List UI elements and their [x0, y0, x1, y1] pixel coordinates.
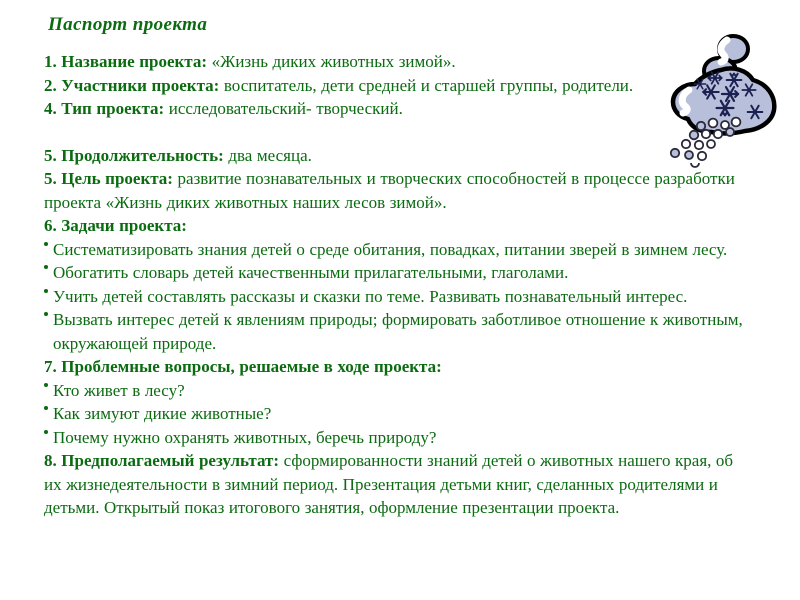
paragraph-item-1-project-name: 1. Название проекта: «Жизнь диких животн…: [44, 50, 754, 74]
label-item-6-tasks: 6. Задачи проекта:: [44, 216, 187, 235]
list-item-task-3: Учить детей составлять рассказы и сказки…: [44, 285, 754, 309]
label-item-7-questions: 7. Проблемные вопросы, решаемые в ходе п…: [44, 357, 442, 376]
paragraph-item-4-project-type: 4. Тип проекта: исследовательский- творч…: [44, 97, 754, 121]
value-item-5-duration: два месяца.: [224, 146, 312, 165]
bullet-dot-icon: [44, 289, 48, 293]
label-item-5-goal: 5. Цель проекта:: [44, 169, 173, 188]
value-item-4-project-type: исследовательский- творческий.: [164, 99, 403, 118]
list-item-task-2: Обогатить словарь детей качественными пр…: [44, 261, 754, 285]
label-item-5-duration: 5. Продолжительность:: [44, 146, 224, 165]
list-item-question-1: Кто живет в лесу?: [44, 379, 754, 403]
value-task-2: Обогатить словарь детей качественными пр…: [53, 263, 568, 282]
paragraph-item-5-goal: 5. Цель проекта: развитие познавательных…: [44, 167, 754, 214]
value-task-3: Учить детей составлять рассказы и сказки…: [53, 287, 687, 306]
value-item-1-project-name: «Жизнь диких животных зимой».: [207, 52, 456, 71]
paragraph-item-2-participants: 2. Участники проекта: воспитатель, дети …: [44, 74, 754, 98]
label-item-1-project-name: 1. Название проекта:: [44, 52, 207, 71]
paragraph-item-5-duration: 5. Продолжительность: два месяца.: [44, 144, 754, 168]
paragraph-item-6-tasks: 6. Задачи проекта:: [44, 214, 754, 238]
value-item-2-participants: воспитатель, дети средней и старшей груп…: [219, 76, 633, 95]
bullet-dot-icon: [44, 242, 48, 246]
bullet-dot-icon: [44, 430, 48, 434]
label-item-4-project-type: 4. Тип проекта:: [44, 99, 164, 118]
list-item-question-2: Как зимуют дикие животные?: [44, 402, 754, 426]
list-item-question-3: Почему нужно охранять животных, беречь п…: [44, 426, 754, 450]
slide-canvas: Паспорт проекта 1. Название проекта: «Жи…: [0, 0, 800, 600]
value-question-3: Почему нужно охранять животных, беречь п…: [53, 428, 436, 447]
paragraph-item-7-questions: 7. Проблемные вопросы, решаемые в ходе п…: [44, 355, 754, 379]
value-task-4: Вызвать интерес детей к явлениям природы…: [53, 310, 743, 353]
page-title: Паспорт проекта: [48, 14, 207, 36]
value-task-1: Систематизировать знания детей о среде о…: [53, 240, 727, 259]
value-question-2: Как зимуют дикие животные?: [53, 404, 271, 423]
list-item-task-4: Вызвать интерес детей к явлениям природы…: [44, 308, 754, 355]
bullet-dot-icon: [44, 312, 48, 316]
bullet-dot-icon: [44, 265, 48, 269]
list-item-task-1: Систематизировать знания детей о среде о…: [44, 238, 754, 262]
bullet-dot-icon: [44, 406, 48, 410]
bullet-dot-icon: [44, 383, 48, 387]
document-body: 1. Название проекта: «Жизнь диких животн…: [44, 50, 754, 520]
label-item-8-expected-result: 8. Предполагаемый результат:: [44, 451, 279, 470]
label-item-2-participants: 2. Участники проекта:: [44, 76, 219, 95]
value-question-1: Кто живет в лесу?: [53, 381, 185, 400]
paragraph-spacer: [44, 121, 754, 144]
paragraph-item-8-expected-result: 8. Предполагаемый результат: сформирован…: [44, 449, 754, 520]
